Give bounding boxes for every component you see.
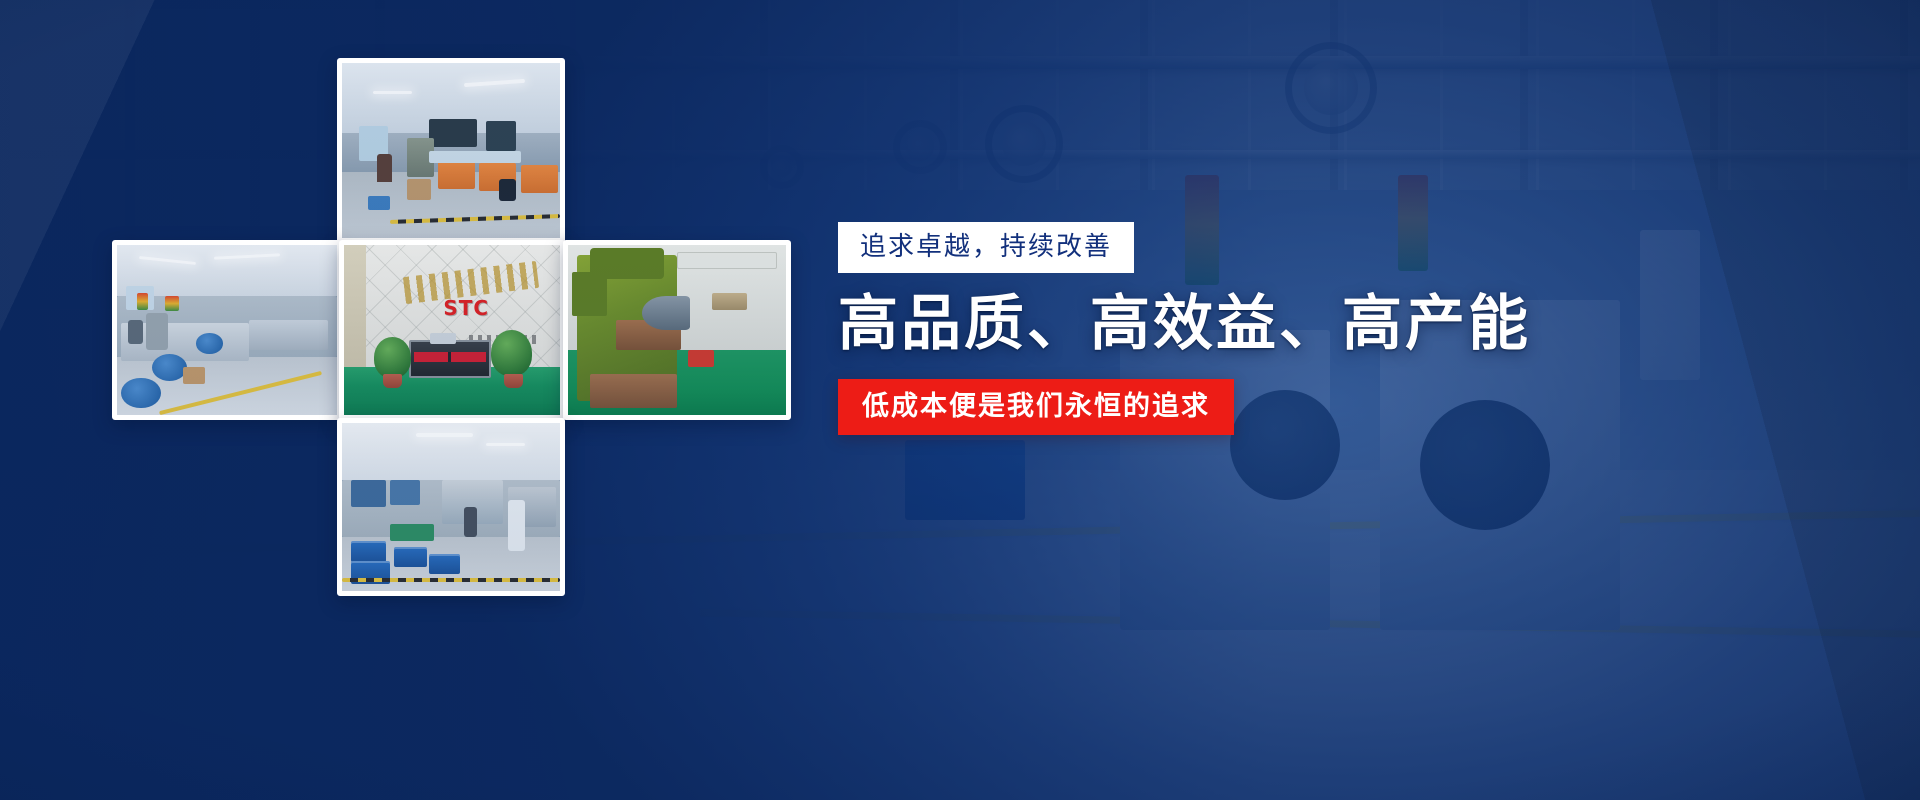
machine-base <box>590 374 677 408</box>
worker <box>464 507 477 537</box>
hero-copy: 追求卓越，持续改善 高品质、高效益、高产能 低成本便是我们永恒的追求 <box>838 222 1398 435</box>
worker <box>146 313 168 350</box>
red-toolbox <box>688 350 714 367</box>
potted-plant <box>491 330 532 376</box>
carton <box>407 179 431 200</box>
andon-light-tower <box>165 296 178 311</box>
production-line <box>249 320 328 351</box>
eyebrow-tagline: 追求卓越，持续改善 <box>838 222 1134 273</box>
workbench-partition <box>438 161 475 189</box>
ceiling-light <box>416 433 473 437</box>
office-chair <box>499 179 516 202</box>
stc-logo-text: STC <box>443 296 489 320</box>
receptionist <box>430 333 456 343</box>
machine-arm <box>572 272 607 316</box>
collage-photo-center: STC <box>339 240 565 420</box>
blue-crate <box>394 547 427 567</box>
wall-box <box>712 293 747 310</box>
plant-pot <box>383 374 402 388</box>
bench-top <box>429 151 521 163</box>
ceiling-light <box>373 91 412 94</box>
blue-crate <box>368 196 390 210</box>
collage-photo-bottom <box>337 418 565 596</box>
photo-collage: STC <box>0 0 800 800</box>
wall-panel <box>677 252 777 269</box>
collage-photo-top <box>337 58 565 243</box>
window <box>486 121 517 151</box>
worker <box>377 154 392 182</box>
worker <box>128 320 143 344</box>
plant-pot <box>504 374 523 388</box>
component-reel <box>121 378 161 409</box>
hero-headline: 高品质、高效益、高产能 <box>838 293 1398 357</box>
ceiling-light <box>486 443 525 446</box>
component-reel <box>196 333 222 353</box>
collage-photo-left <box>112 240 342 420</box>
machine-head <box>642 296 690 330</box>
work-table <box>390 524 434 541</box>
worker <box>508 500 525 550</box>
window <box>390 480 421 505</box>
window <box>351 480 386 507</box>
workbench-partition <box>521 165 558 193</box>
window <box>429 119 477 147</box>
carton <box>183 367 205 384</box>
andon-light-tower <box>137 293 148 310</box>
collage-photo-right <box>563 240 791 420</box>
blue-crate <box>351 541 386 563</box>
floor-marking <box>342 578 560 582</box>
potted-plant <box>374 337 411 378</box>
hero-banner: STC <box>0 0 1920 800</box>
hero-ribbon-tagline: 低成本便是我们永恒的追求 <box>838 379 1234 435</box>
reception-desk <box>409 340 491 377</box>
blue-crate <box>429 554 460 574</box>
